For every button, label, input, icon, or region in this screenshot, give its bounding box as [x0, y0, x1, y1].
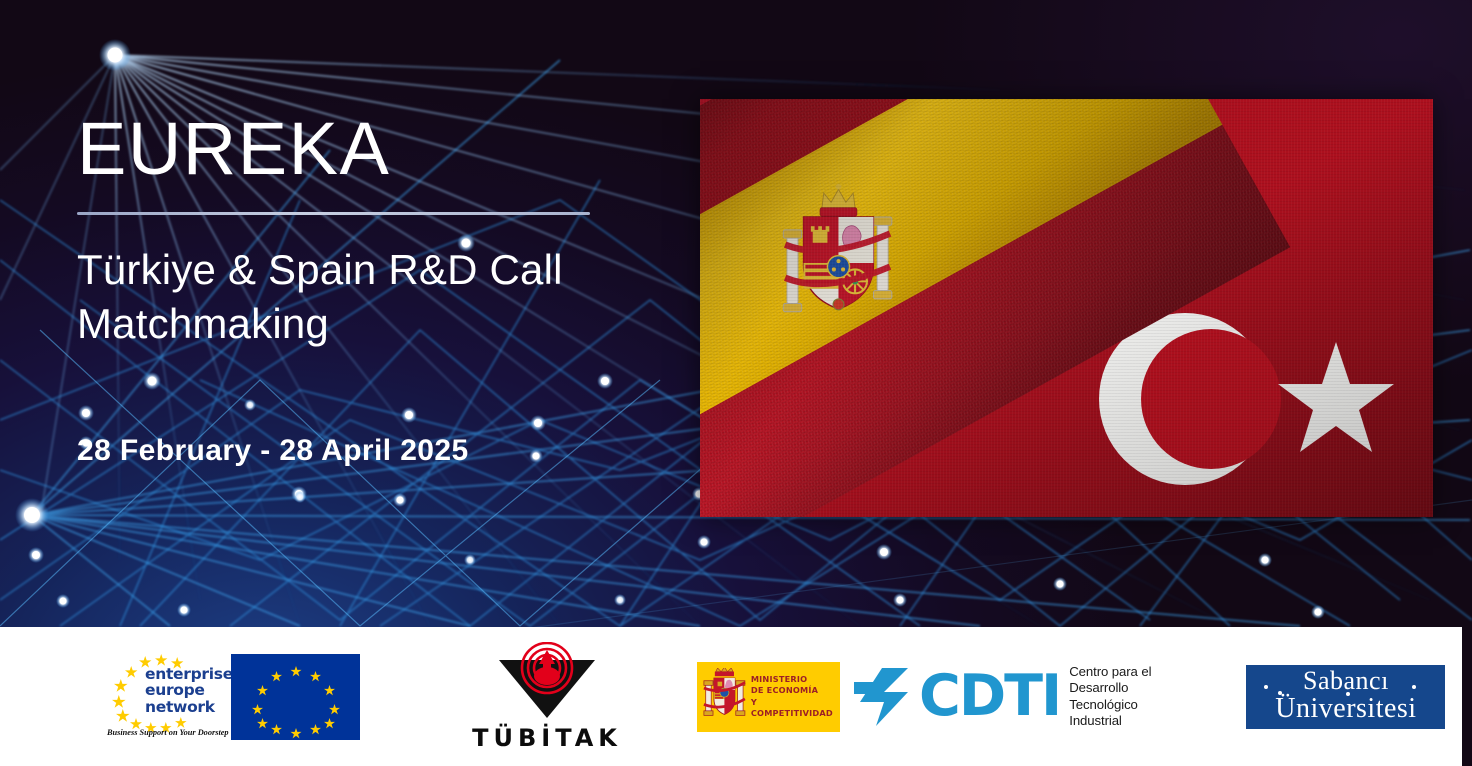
een-tagline: Business Support on Your Doorstep — [107, 728, 225, 737]
tubitak-triangle-icon — [487, 642, 607, 720]
logo-sabanci-universitesi: Sabancı Üniversitesi — [1246, 665, 1445, 729]
title-block: EUREKA — [77, 112, 637, 215]
een-wordmark: enterprise europe network — [145, 666, 233, 716]
cdti-arrow-icon — [854, 666, 910, 728]
european-union-flag-icon — [231, 654, 360, 740]
event-dates: 28 February - 28 April 2025 — [77, 434, 469, 468]
cdti-subtitle: Centro para el Desarrollo Tecnológico In… — [1069, 664, 1151, 729]
tubitak-wordmark: TÜBİTAK — [472, 724, 622, 752]
logo-enterprise-europe-network: enterprise europe network Business Suppo… — [105, 654, 360, 740]
sponsor-logo-bar: enterprise europe network Business Suppo… — [0, 627, 1462, 766]
een-stars-icon: enterprise europe network Business Suppo… — [105, 654, 215, 740]
event-subtitle: Türkiye & Spain R&D Call Matchmaking — [77, 243, 697, 351]
sabanci-line1: Sabancı — [1246, 666, 1445, 696]
logo-tubitak: TÜBİTAK — [472, 642, 622, 752]
logo-cdti: CDTI Centro para el Desarrollo Tecnológi… — [854, 664, 1151, 729]
spain-coat-of-arms-icon — [703, 668, 746, 726]
title-divider — [77, 212, 590, 215]
page-title: EUREKA — [77, 112, 637, 186]
cdti-wordmark: CDTI — [919, 671, 1060, 721]
sabanci-line2: Üniversitesi — [1246, 693, 1445, 725]
logo-ministerio-economia: MINISTERIO DE ECONOMÍA Y COMPETITIVIDAD — [697, 662, 840, 732]
eureka-event-poster: EUREKA Türkiye & Spain R&D Call Matchmak… — [0, 0, 1472, 766]
logo-group-spain: MINISTERIO DE ECONOMÍA Y COMPETITIVIDAD … — [697, 662, 1151, 732]
spain-turkiye-flags-photo — [700, 99, 1433, 517]
ministerio-wordmark: MINISTERIO DE ECONOMÍA Y COMPETITIVIDAD — [751, 674, 834, 718]
